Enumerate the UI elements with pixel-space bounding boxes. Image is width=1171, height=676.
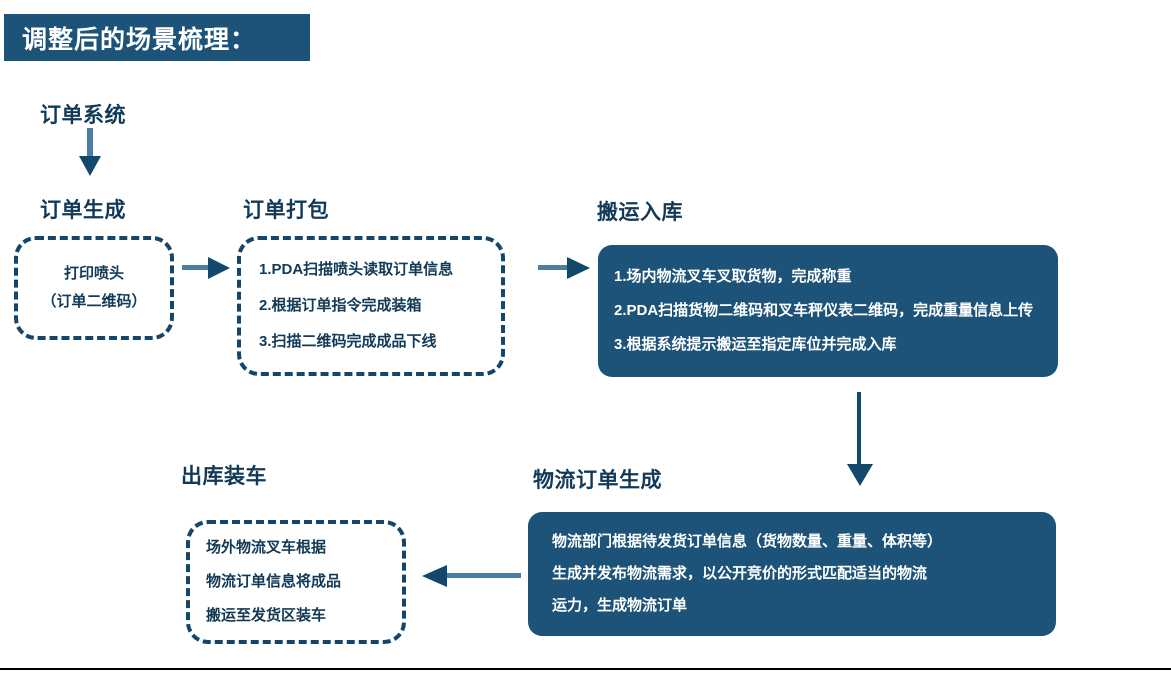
box-inbound[interactable]: 1.场内物流叉车叉取货物，完成称重 2.PDA扫描货物二维码和叉车秤仪表二维码，… xyxy=(598,245,1058,377)
box-line: 场外物流叉车根据 xyxy=(206,531,402,565)
page-title: 调整后的场景梳理： xyxy=(4,20,256,56)
diagram-canvas: 调整后的场景梳理： 订单系统 订单生成 订单打包 搬运入库 出库装车 物流订单生… xyxy=(0,0,1171,676)
box-line: 1.PDA扫描喷头读取订单信息 xyxy=(259,252,501,288)
box-line: 3.根据系统提示搬运至指定库位并完成入库 xyxy=(614,328,1058,362)
box-line: 运力，生成物流订单 xyxy=(552,590,1056,622)
box-line: 2.根据订单指令完成装箱 xyxy=(259,288,501,324)
arrow-logistics-to-outbound xyxy=(421,562,521,590)
box-line: 打印喷头 xyxy=(18,260,170,288)
box-order-generate[interactable]: 打印喷头 （订单二维码） xyxy=(14,236,174,340)
arrow-generate-to-pack xyxy=(182,254,232,282)
box-line: 2.PDA扫描货物二维码和叉车秤仪表二维码，完成重量信息上传 xyxy=(614,294,1058,328)
heading-inbound: 搬运入库 xyxy=(597,196,683,226)
box-line: 搬运至发货区装车 xyxy=(206,599,402,633)
box-line: 3.扫描二维码完成成品下线 xyxy=(259,324,501,360)
heading-order-system: 订单系统 xyxy=(40,99,126,129)
heading-outbound: 出库装车 xyxy=(181,460,267,490)
box-line: 物流部门根据待发货订单信息（货物数量、重量、体积等） xyxy=(552,526,1056,558)
box-line: （订单二维码） xyxy=(18,288,170,316)
arrow-order-system-to-generate xyxy=(76,128,104,178)
heading-logistics-order: 物流订单生成 xyxy=(533,464,662,494)
arrow-pack-to-inbound xyxy=(538,254,592,282)
box-order-pack[interactable]: 1.PDA扫描喷头读取订单信息 2.根据订单指令完成装箱 3.扫描二维码完成成品… xyxy=(237,236,505,376)
box-outbound[interactable]: 场外物流叉车根据 物流订单信息将成品 搬运至发货区装车 xyxy=(186,520,406,644)
heading-order-generate: 订单生成 xyxy=(40,194,126,224)
heading-order-pack: 订单打包 xyxy=(243,194,329,224)
page-title-banner: 调整后的场景梳理： xyxy=(4,14,310,61)
box-line: 1.场内物流叉车叉取货物，完成称重 xyxy=(614,260,1058,294)
bottom-divider xyxy=(0,668,1171,670)
box-line: 生成并发布物流需求，以公开竞价的形式匹配适当的物流 xyxy=(552,558,1056,590)
box-line: 物流订单信息将成品 xyxy=(206,565,402,599)
box-logistics-order[interactable]: 物流部门根据待发货订单信息（货物数量、重量、体积等） 生成并发布物流需求，以公开… xyxy=(528,512,1056,636)
arrow-inbound-to-logistics xyxy=(840,392,880,488)
